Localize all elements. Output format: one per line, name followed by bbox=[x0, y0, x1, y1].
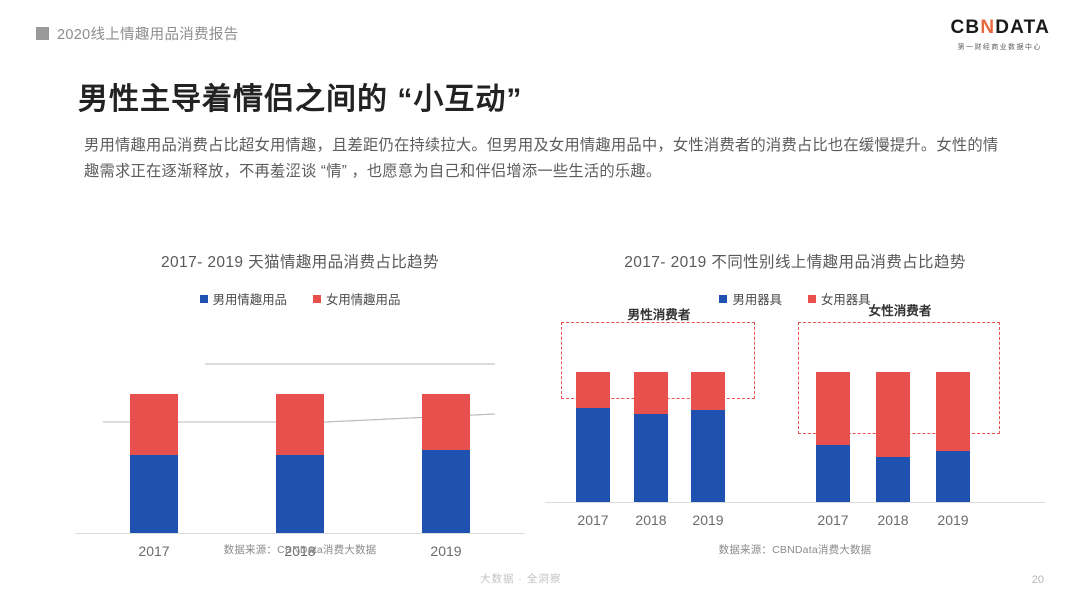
chart-source-left: 数据来源：CBNData消费大数据 bbox=[75, 542, 525, 557]
group-label-male-consumers: 男性消费者 bbox=[579, 304, 739, 323]
slide-root: 2020线上情趣用品消费报告 CBNDATA 第一财经商业数据中心 男性主导着情… bbox=[0, 0, 1080, 608]
kicker-label: 2020线上情趣用品消费报告 bbox=[57, 23, 238, 44]
bar-segment-female-2017[interactable] bbox=[130, 394, 178, 455]
logo-wordmark: CBNDATA bbox=[950, 18, 1050, 37]
chart-tmall-share-trend: 2017- 2019 天猫情趣用品消费占比趋势 男用情趣用品 女用情趣用品 bbox=[75, 250, 525, 534]
bar-segment-male-2017[interactable] bbox=[130, 455, 178, 533]
bar-female-2018[interactable] bbox=[876, 372, 910, 502]
x-tick-female-2017: 2017 bbox=[806, 512, 860, 528]
legend-item-female-products: 女用情趣用品 bbox=[313, 290, 400, 308]
legend-item-male-products: 男用情趣用品 bbox=[200, 290, 287, 308]
cbndata-logo: CBNDATA 第一财经商业数据中心 bbox=[950, 18, 1050, 52]
report-kicker: 2020线上情趣用品消费报告 bbox=[36, 23, 238, 44]
x-tick-male-2019: 2019 bbox=[681, 512, 735, 528]
legend-swatch-blue-icon bbox=[200, 295, 208, 303]
bar-segment-female-device-female-2018[interactable] bbox=[876, 372, 910, 457]
legend-swatch-red-icon bbox=[313, 295, 321, 303]
x-tick-female-2019: 2019 bbox=[926, 512, 980, 528]
kicker-square-icon bbox=[36, 27, 49, 40]
page-title: 男性主导着情侣之间的 “小互动” bbox=[78, 74, 522, 118]
x-axis-right bbox=[545, 502, 1045, 503]
legend-swatch-blue-icon bbox=[719, 295, 727, 303]
logo-word-right: DATA bbox=[995, 18, 1050, 37]
bar-segment-male-2018[interactable] bbox=[276, 455, 324, 533]
chart-source-right: 数据来源：CBNData消费大数据 bbox=[545, 542, 1045, 557]
chart-gender-share-trend: 2017- 2019 不同性别线上情趣用品消费占比趋势 男用器具 女用器具 男性… bbox=[545, 250, 1045, 503]
legend-label-female-products: 女用情趣用品 bbox=[326, 290, 400, 308]
bar-segment-female-2019[interactable] bbox=[422, 394, 470, 450]
footer-brand: 大数据 · 全洞察 bbox=[480, 571, 561, 586]
bar-segment-female-device-female-2019[interactable] bbox=[936, 372, 970, 451]
legend-swatch-red-icon bbox=[808, 295, 816, 303]
x-axis-left bbox=[75, 533, 525, 534]
plot-area-left: 2017 2018 2019 bbox=[75, 334, 525, 534]
plot-area-right: 男性消费者 女性消费者 2017 2018 2019 bbox=[545, 318, 1045, 503]
bar-female-2019[interactable] bbox=[936, 372, 970, 502]
bar-segment-male-device-female-2018[interactable] bbox=[876, 457, 910, 503]
bar-segment-female-device-male-2018[interactable] bbox=[634, 372, 668, 414]
chart-legend-left: 男用情趣用品 女用情趣用品 bbox=[75, 290, 525, 308]
bar-2017[interactable] bbox=[130, 394, 178, 533]
bar-2018[interactable] bbox=[276, 394, 324, 533]
bar-segment-male-device-male-2017[interactable] bbox=[576, 408, 610, 502]
x-tick-female-2018: 2018 bbox=[866, 512, 920, 528]
page-summary: 男用情趣用品消费占比超女用情趣，且差距仍在持续拉大。但男用及女用情趣用品中，女性… bbox=[84, 133, 1009, 185]
bar-segment-male-device-female-2019[interactable] bbox=[936, 451, 970, 502]
legend-label-male-device: 男用器具 bbox=[732, 290, 782, 308]
bar-male-2018[interactable] bbox=[634, 372, 668, 502]
bar-segment-female-2018[interactable] bbox=[276, 394, 324, 455]
logo-word-left: CB bbox=[950, 18, 980, 37]
group-label-female-consumers: 女性消费者 bbox=[820, 300, 980, 319]
bar-female-2017[interactable] bbox=[816, 372, 850, 502]
bar-segment-male-2019[interactable] bbox=[422, 450, 470, 533]
logo-subtitle: 第一财经商业数据中心 bbox=[952, 42, 1048, 52]
chart-title-right: 2017- 2019 不同性别线上情趣用品消费占比趋势 bbox=[545, 250, 1045, 272]
bar-male-2017[interactable] bbox=[576, 372, 610, 502]
bar-segment-male-device-female-2017[interactable] bbox=[816, 445, 850, 502]
bar-segment-male-device-male-2018[interactable] bbox=[634, 414, 668, 502]
bar-segment-female-device-female-2017[interactable] bbox=[816, 372, 850, 445]
legend-label-male-products: 男用情趣用品 bbox=[213, 290, 287, 308]
footer-page-number: 20 bbox=[1032, 574, 1044, 586]
chart-title-left: 2017- 2019 天猫情趣用品消费占比趋势 bbox=[75, 250, 525, 272]
x-tick-male-2017: 2017 bbox=[566, 512, 620, 528]
bar-2019[interactable] bbox=[422, 394, 470, 533]
x-tick-male-2018: 2018 bbox=[624, 512, 678, 528]
bar-segment-male-device-male-2019[interactable] bbox=[691, 410, 725, 502]
bar-segment-female-device-male-2017[interactable] bbox=[576, 372, 610, 408]
logo-word-accent: N bbox=[980, 18, 995, 37]
bar-male-2019[interactable] bbox=[691, 372, 725, 502]
bar-segment-female-device-male-2019[interactable] bbox=[691, 372, 725, 410]
